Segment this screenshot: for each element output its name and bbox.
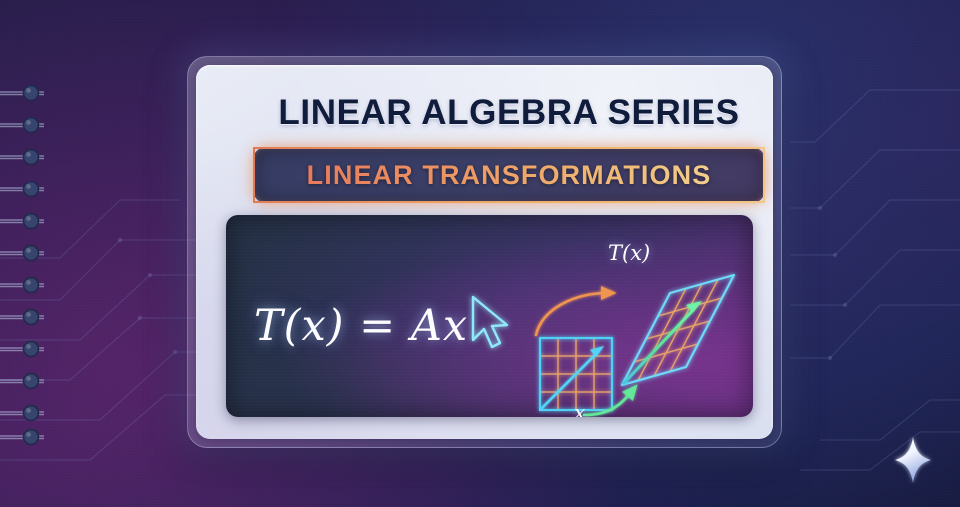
illustration-panel: T(x) = Ax: [226, 215, 753, 417]
four-point-sparkle-icon: [893, 436, 933, 484]
green-curved-arrow: [584, 391, 632, 415]
mouse-cursor-arrow-icon: [466, 292, 518, 354]
orange-curved-arrow: [536, 293, 608, 335]
target-label: T(x): [608, 241, 650, 265]
subtitle-label: LINEAR TRANSFORMATIONS: [307, 160, 712, 191]
target-vector: [624, 301, 702, 383]
formula-text: T(x) = Ax: [254, 301, 468, 351]
subtitle-badge: LINEAR TRANSFORMATIONS: [253, 147, 765, 203]
notebook-page: LINEAR ALGEBRA SERIES LINEAR TRANSFORMAT…: [196, 65, 773, 439]
spiral-binding: [0, 56, 60, 448]
notebook-card: LINEAR ALGEBRA SERIES LINEAR TRANSFORMAT…: [187, 56, 782, 448]
page-title: LINEAR ALGEBRA SERIES: [254, 93, 764, 133]
source-label: x: [574, 400, 585, 417]
